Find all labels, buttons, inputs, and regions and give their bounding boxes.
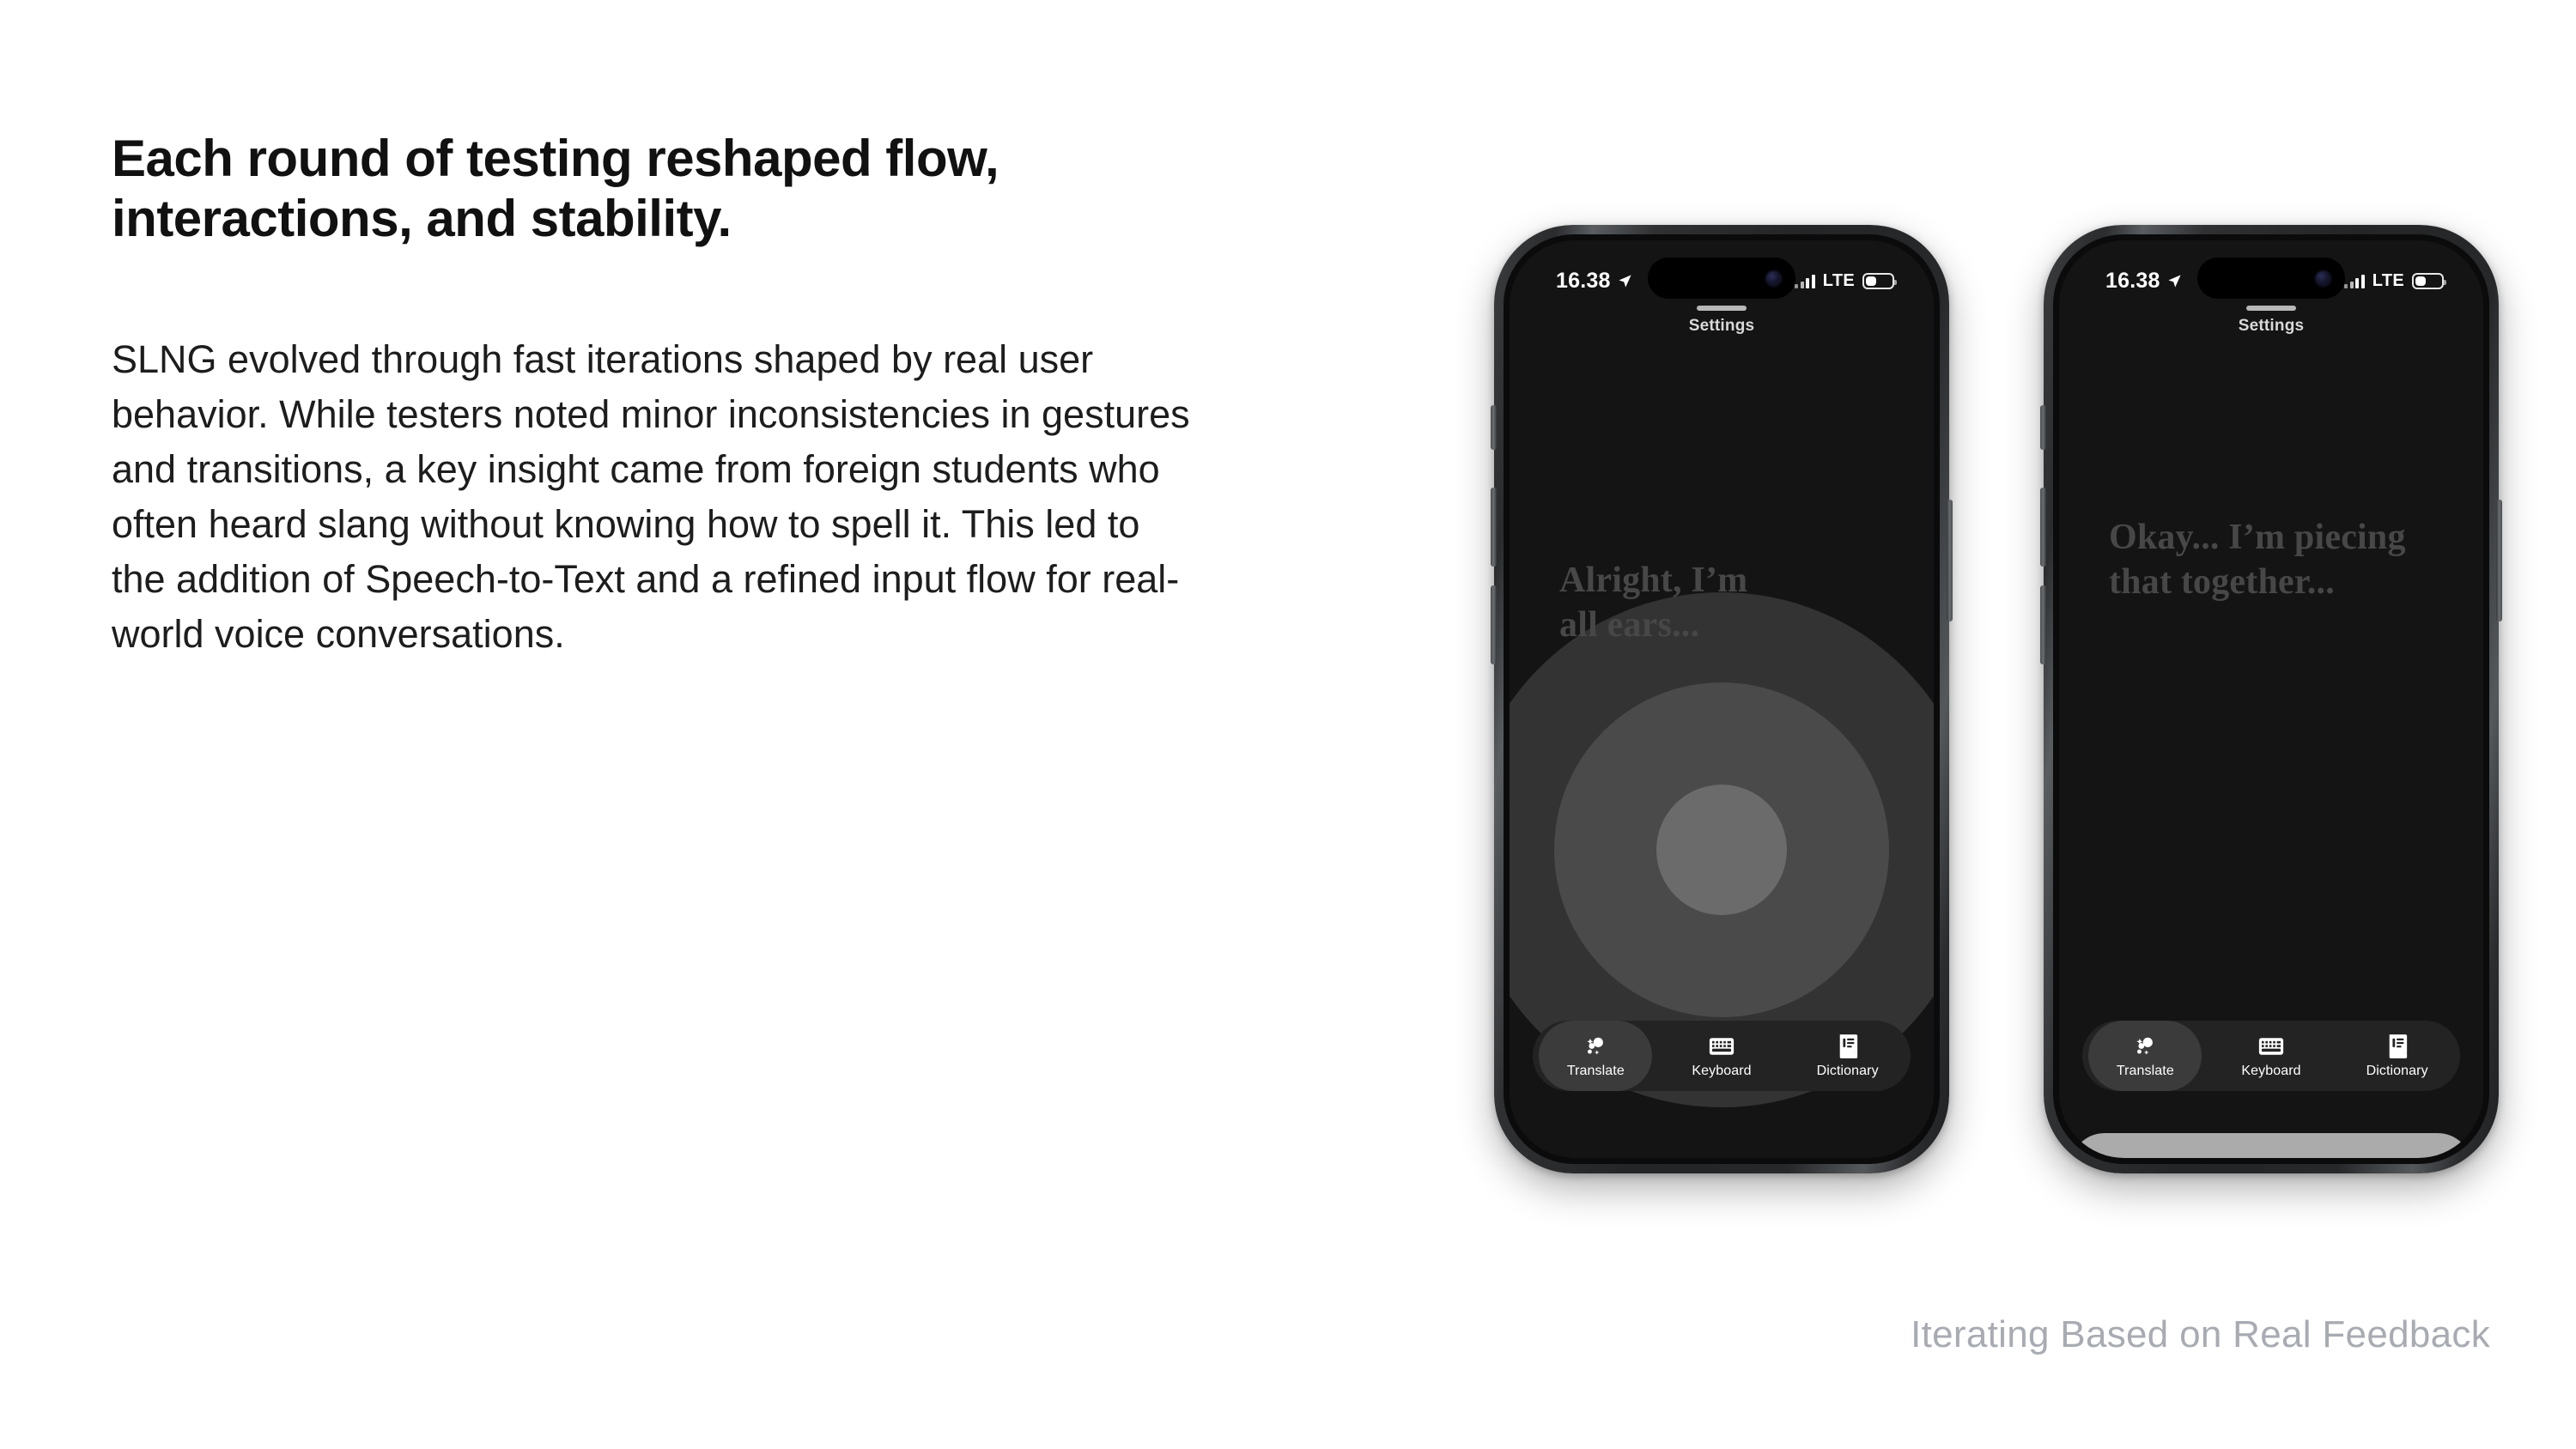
action-button[interactable] <box>1491 405 1497 450</box>
drag-handle[interactable] <box>2246 306 2296 311</box>
cellular-signal-icon <box>1795 274 1815 288</box>
battery-icon <box>2412 273 2444 289</box>
app-header: Settings <box>1510 306 1934 336</box>
assistant-line-2: that together... <box>2109 562 2335 602</box>
phone-mockup-processing: 16.38 LTE Settings <box>2044 225 2499 1173</box>
phone-bezel: 16.38 LTE Settings <box>2053 234 2489 1164</box>
sparkle-bubbles-icon <box>2132 1034 2158 1059</box>
phone-screen: 16.38 LTE Settings <box>1510 240 1934 1158</box>
assistant-line-1: Alright, I’m <box>1559 561 1747 600</box>
keyboard-icon <box>2258 1034 2284 1059</box>
voice-ring-core[interactable] <box>1656 785 1787 915</box>
location-arrow-icon <box>2167 274 2182 288</box>
status-bar-right: LTE <box>2344 271 2444 291</box>
volume-up-button[interactable] <box>2040 488 2046 567</box>
translate-button[interactable]: Translate → <box>2070 1133 2472 1158</box>
volume-up-button[interactable] <box>1491 488 1497 567</box>
cellular-signal-icon <box>2344 274 2365 288</box>
tab-translate[interactable]: Translate <box>2088 1021 2202 1091</box>
front-camera-icon <box>1766 271 1781 286</box>
keyboard-icon <box>1709 1034 1735 1059</box>
tab-label-keyboard: Keyboard <box>2241 1064 2300 1079</box>
settings-label[interactable]: Settings <box>1510 317 1934 336</box>
network-label: LTE <box>2372 271 2404 291</box>
tab-label-dictionary: Dictionary <box>2366 1064 2428 1079</box>
volume-down-button[interactable] <box>1491 585 1497 664</box>
phone-mockups-group: 16.38 LTE Settings <box>1494 225 2499 1186</box>
dynamic-island[interactable] <box>1648 258 1795 299</box>
tab-translate[interactable]: Translate <box>1539 1021 1652 1091</box>
settings-label[interactable]: Settings <box>2059 317 2483 336</box>
tab-keyboard[interactable]: Keyboard <box>1665 1021 1778 1091</box>
network-label: LTE <box>1823 271 1855 291</box>
tab-label-translate: Translate <box>2117 1064 2174 1079</box>
volume-down-button[interactable] <box>2040 585 2046 664</box>
tab-bar: Translate <box>2082 1021 2460 1091</box>
status-bar-left: 16.38 <box>2105 269 2182 294</box>
tab-dictionary[interactable]: Dictionary <box>2341 1021 2454 1091</box>
assistant-message: Alright, I’m all ears... <box>1559 558 1920 647</box>
book-icon <box>2386 1034 2409 1059</box>
tab-label-dictionary: Dictionary <box>1817 1064 1879 1079</box>
power-button[interactable] <box>2496 500 2502 621</box>
status-bar-right: LTE <box>1795 271 1894 291</box>
phone-bezel: 16.38 LTE Settings <box>1504 234 1940 1164</box>
assistant-line-1: Okay... I’m piecing <box>2109 518 2406 557</box>
status-time: 16.38 <box>1556 269 1611 294</box>
tab-bar: Translate <box>1533 1021 1911 1091</box>
front-camera-icon <box>2316 271 2330 286</box>
battery-icon <box>1862 273 1894 289</box>
action-button[interactable] <box>2040 405 2046 450</box>
translate-button-label: Translate <box>2203 1155 2300 1159</box>
tab-dictionary[interactable]: Dictionary <box>1791 1021 1905 1091</box>
sparkle-bubbles-icon <box>1583 1034 1608 1059</box>
slide-text-column: Each round of testing reshaped flow, int… <box>112 129 1245 662</box>
dynamic-island[interactable] <box>2197 258 2345 299</box>
arrow-right-icon: → <box>2315 1155 2339 1158</box>
book-icon <box>1837 1034 1859 1059</box>
footer-caption: Iterating Based on Real Feedback <box>1911 1313 2490 1356</box>
assistant-message: Okay... I’m piecing that together... <box>2109 515 2470 604</box>
tab-label-keyboard: Keyboard <box>1692 1064 1751 1079</box>
location-arrow-icon <box>1618 274 1632 288</box>
phone-screen: 16.38 LTE Settings <box>2059 240 2483 1158</box>
tab-label-translate: Translate <box>1567 1064 1625 1079</box>
body-paragraph: SLNG evolved through fast iterations sha… <box>112 332 1202 661</box>
phone-mockup-listening: 16.38 LTE Settings <box>1494 225 1949 1173</box>
status-time: 16.38 <box>2105 269 2160 294</box>
page-title: Each round of testing reshaped flow, int… <box>112 129 1228 248</box>
power-button[interactable] <box>1947 500 1953 621</box>
app-header: Settings <box>2059 306 2483 336</box>
drag-handle[interactable] <box>1697 306 1747 311</box>
tab-keyboard[interactable]: Keyboard <box>2215 1021 2328 1091</box>
status-bar-left: 16.38 <box>1556 269 1632 294</box>
assistant-line-2: all ears... <box>1559 605 1699 645</box>
